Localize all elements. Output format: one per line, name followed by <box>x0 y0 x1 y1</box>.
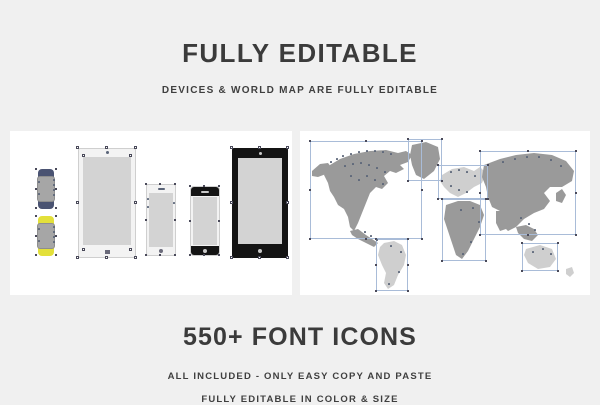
anchor-handle[interactable] <box>309 238 311 240</box>
path-point[interactable] <box>374 179 376 181</box>
path-point[interactable] <box>350 175 352 177</box>
path-point[interactable] <box>173 202 175 204</box>
anchor-handle[interactable] <box>286 201 289 204</box>
path-point[interactable] <box>376 239 378 241</box>
path-point[interactable] <box>342 155 344 157</box>
anchor-handle[interactable] <box>35 254 37 256</box>
anchor-handle[interactable] <box>55 215 57 217</box>
device-tablet-light[interactable] <box>78 148 136 258</box>
page-root: FULLY EDITABLE DEVICES & WORLD MAP ARE F… <box>0 0 600 400</box>
device-tablet-dark[interactable] <box>232 148 288 258</box>
path-point[interactable] <box>472 207 474 209</box>
map-stage <box>300 131 590 295</box>
path-point[interactable] <box>466 171 468 173</box>
anchor-handle[interactable] <box>286 256 289 259</box>
path-point[interactable] <box>470 241 472 243</box>
anchor-handle[interactable] <box>134 256 137 259</box>
anchor-handle[interactable] <box>309 189 311 191</box>
path-point[interactable] <box>370 235 372 237</box>
path-point[interactable] <box>147 198 149 200</box>
anchor-handle[interactable] <box>203 185 205 187</box>
anchor-handle[interactable] <box>105 256 108 259</box>
anchor-handle[interactable] <box>575 150 577 152</box>
device-smartwatch-navy[interactable] <box>34 169 58 209</box>
region-new-zealand <box>566 267 574 277</box>
anchor-handle[interactable] <box>407 180 409 182</box>
device-phone-dark[interactable] <box>190 186 220 256</box>
anchor-handle[interactable] <box>575 192 577 194</box>
path-point[interactable] <box>466 191 468 193</box>
anchor-handle[interactable] <box>174 254 176 256</box>
path-point[interactable] <box>550 159 552 161</box>
anchor-handle[interactable] <box>145 183 147 185</box>
path-point[interactable] <box>450 171 452 173</box>
selection-box-australia[interactable] <box>522 243 558 271</box>
path-point[interactable] <box>147 206 149 208</box>
home-button-icon[interactable] <box>258 249 262 253</box>
anchor-handle[interactable] <box>35 207 37 209</box>
devices-panel <box>10 131 292 295</box>
path-point[interactable] <box>384 171 386 173</box>
path-point[interactable] <box>366 175 368 177</box>
anchor-handle[interactable] <box>521 242 523 244</box>
anchor-handle[interactable] <box>557 270 559 272</box>
path-point[interactable] <box>382 183 384 185</box>
path-point[interactable] <box>458 189 460 191</box>
anchor-handle[interactable] <box>189 185 191 187</box>
anchor-handle[interactable] <box>421 238 423 240</box>
selection-box-greenland[interactable] <box>408 139 442 181</box>
path-point[interactable] <box>366 150 368 152</box>
anchor-handle[interactable] <box>407 238 409 240</box>
home-button-icon[interactable] <box>105 250 110 254</box>
path-point[interactable] <box>462 253 464 255</box>
anchor-handle[interactable] <box>441 180 443 182</box>
anchor-handle[interactable] <box>375 264 377 266</box>
path-point[interactable] <box>358 151 360 153</box>
device-phone-light[interactable] <box>146 184 176 256</box>
anchor-handle[interactable] <box>134 201 137 204</box>
anchor-handle[interactable] <box>421 140 423 142</box>
path-point[interactable] <box>400 251 402 253</box>
tablet-screen <box>83 157 131 245</box>
anchor-handle[interactable] <box>76 256 79 259</box>
anchor-handle[interactable] <box>258 146 261 149</box>
anchor-handle[interactable] <box>479 150 481 152</box>
anchor-handle[interactable] <box>479 234 481 236</box>
anchor-handle[interactable] <box>159 254 161 256</box>
path-point[interactable] <box>460 209 462 211</box>
anchor-handle[interactable] <box>35 215 37 217</box>
anchor-handle[interactable] <box>527 234 529 236</box>
anchor-handle[interactable] <box>218 185 220 187</box>
anchor-handle[interactable] <box>441 198 443 200</box>
anchor-handle[interactable] <box>203 254 205 256</box>
anchor-handle[interactable] <box>437 164 439 166</box>
path-point[interactable] <box>38 181 40 183</box>
path-point[interactable] <box>352 163 354 165</box>
path-point[interactable] <box>330 161 332 163</box>
home-button-icon[interactable] <box>159 249 163 253</box>
path-point[interactable] <box>350 153 352 155</box>
anchor-handle[interactable] <box>129 248 132 251</box>
anchor-handle[interactable] <box>134 146 137 149</box>
path-point[interactable] <box>358 179 360 181</box>
anchor-handle[interactable] <box>286 146 289 149</box>
anchor-handle[interactable] <box>230 256 233 259</box>
anchor-handle[interactable] <box>557 242 559 244</box>
path-point[interactable] <box>344 165 346 167</box>
path-point[interactable] <box>478 221 480 223</box>
anchor-handle[interactable] <box>230 146 233 149</box>
path-point[interactable] <box>382 151 384 153</box>
anchor-handle[interactable] <box>174 183 176 185</box>
path-point[interactable] <box>53 179 55 181</box>
map-panel <box>300 131 590 295</box>
selection-box-north-america[interactable] <box>310 141 422 239</box>
path-point[interactable] <box>390 153 392 155</box>
path-point[interactable] <box>53 194 55 196</box>
path-point[interactable] <box>360 162 362 164</box>
anchor-handle[interactable] <box>487 198 489 200</box>
anchor-handle[interactable] <box>189 254 191 256</box>
anchor-handle[interactable] <box>230 201 233 204</box>
path-point[interactable] <box>38 240 40 242</box>
anchor-handle[interactable] <box>105 146 108 149</box>
anchor-handle[interactable] <box>527 150 529 152</box>
anchor-handle[interactable] <box>365 238 367 240</box>
anchor-handle[interactable] <box>441 138 443 140</box>
anchor-handle[interactable] <box>76 146 79 149</box>
anchor-handle[interactable] <box>365 140 367 142</box>
page-title: FULLY EDITABLE <box>0 39 600 67</box>
path-point[interactable] <box>526 156 528 158</box>
path-point[interactable] <box>528 223 530 225</box>
anchor-handle[interactable] <box>76 201 79 204</box>
anchor-handle[interactable] <box>218 220 220 222</box>
anchor-handle[interactable] <box>421 189 423 191</box>
selection-box-south-america[interactable] <box>376 239 408 291</box>
anchor-handle[interactable] <box>521 270 523 272</box>
path-point[interactable] <box>364 231 366 233</box>
anchor-handle[interactable] <box>407 290 409 292</box>
anchor-handle[interactable] <box>129 154 132 157</box>
path-point[interactable] <box>534 229 536 231</box>
path-point[interactable] <box>458 169 460 171</box>
anchor-handle[interactable] <box>145 219 147 221</box>
path-point[interactable] <box>560 165 562 167</box>
path-point[interactable] <box>38 193 40 195</box>
anchor-handle[interactable] <box>258 256 261 259</box>
anchor-handle[interactable] <box>55 188 57 190</box>
anchor-handle[interactable] <box>375 290 377 292</box>
icons-section-subtitle-1: ALL INCLUDED - ONLY EASY COPY AND PASTE <box>0 371 600 382</box>
camera-icon[interactable] <box>259 152 262 155</box>
anchor-handle[interactable] <box>309 140 311 142</box>
path-point[interactable] <box>398 271 400 273</box>
path-point[interactable] <box>53 189 55 191</box>
anchor-handle[interactable] <box>485 198 487 200</box>
anchor-handle[interactable] <box>485 260 487 262</box>
path-point[interactable] <box>532 251 534 253</box>
anchor-handle[interactable] <box>145 254 147 256</box>
anchor-handle[interactable] <box>575 234 577 236</box>
anchor-handle[interactable] <box>35 235 37 237</box>
speaker-icon <box>158 188 165 190</box>
anchor-handle[interactable] <box>82 248 85 251</box>
anchor-handle[interactable] <box>487 164 489 166</box>
path-point[interactable] <box>53 231 55 233</box>
anchor-handle[interactable] <box>437 198 439 200</box>
path-point[interactable] <box>474 175 476 177</box>
path-point[interactable] <box>450 185 452 187</box>
path-point[interactable] <box>520 217 522 219</box>
path-point[interactable] <box>388 283 390 285</box>
anchor-handle[interactable] <box>159 183 161 185</box>
path-point[interactable] <box>53 226 55 228</box>
path-point[interactable] <box>390 245 392 247</box>
anchor-handle[interactable] <box>407 264 409 266</box>
anchor-handle[interactable] <box>174 219 176 221</box>
anchor-handle[interactable] <box>55 254 57 256</box>
path-point[interactable] <box>53 184 55 186</box>
page-subtitle: DEVICES & WORLD MAP ARE FULLY EDITABLE <box>0 85 600 96</box>
device-smartwatch-yellow[interactable] <box>34 216 58 256</box>
anchor-handle[interactable] <box>35 188 37 190</box>
path-point[interactable] <box>374 150 376 152</box>
path-point[interactable] <box>38 228 40 230</box>
anchor-handle[interactable] <box>55 207 57 209</box>
anchor-handle[interactable] <box>35 168 37 170</box>
path-point[interactable] <box>368 164 370 166</box>
anchor-handle[interactable] <box>189 220 191 222</box>
speaker-icon <box>201 191 209 193</box>
anchor-handle[interactable] <box>441 260 443 262</box>
path-point[interactable] <box>542 248 544 250</box>
tablet-screen <box>238 158 282 244</box>
camera-icon[interactable] <box>106 151 109 154</box>
anchor-handle[interactable] <box>82 154 85 157</box>
path-point[interactable] <box>53 241 55 243</box>
path-point[interactable] <box>502 161 504 163</box>
icons-section-title: 550+ FONT ICONS <box>0 323 600 352</box>
path-point[interactable] <box>376 167 378 169</box>
anchor-handle[interactable] <box>55 168 57 170</box>
phone-screen <box>149 193 173 247</box>
path-point[interactable] <box>53 236 55 238</box>
path-point[interactable] <box>514 158 516 160</box>
anchor-handle[interactable] <box>407 138 409 140</box>
path-point[interactable] <box>550 253 552 255</box>
anchor-handle[interactable] <box>218 254 220 256</box>
path-point[interactable] <box>336 158 338 160</box>
anchor-handle[interactable] <box>55 235 57 237</box>
anchor-handle[interactable] <box>479 192 481 194</box>
phone-screen <box>193 197 217 245</box>
path-point[interactable] <box>538 156 540 158</box>
home-button-icon[interactable] <box>203 249 207 253</box>
devices-stage <box>10 131 292 295</box>
